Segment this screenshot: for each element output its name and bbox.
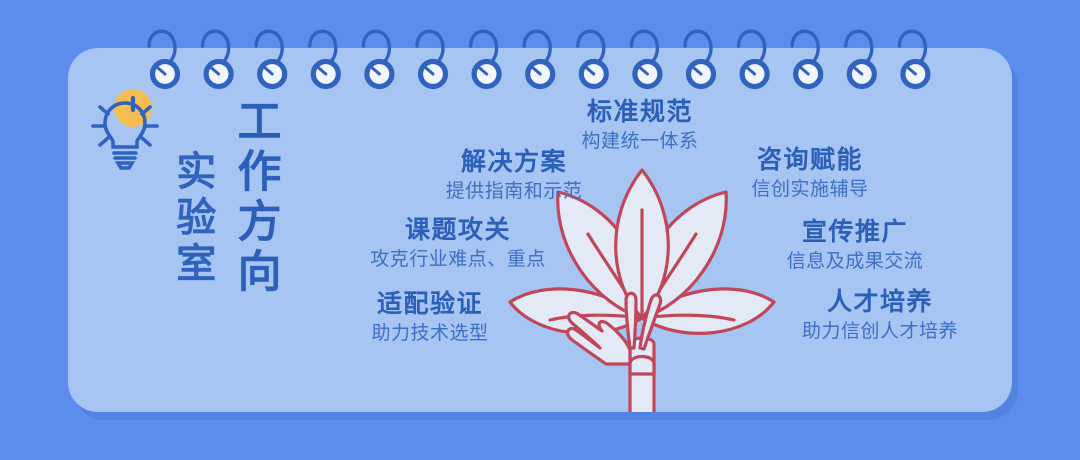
spoke-label-zixun: 咨询赋能 信创实施辅导 (700, 146, 920, 202)
spoke-title: 宣传推广 (740, 218, 970, 247)
spoke-label-jiejue: 解决方案 提供指南和示范 (404, 148, 624, 204)
spoke-subtitle: 攻克行业难点、重点 (338, 248, 578, 273)
spoke-title: 咨询赋能 (700, 146, 920, 175)
spoke-subtitle: 助力信创人才培养 (770, 320, 990, 345)
spoke-title: 标准规范 (540, 98, 740, 127)
spoke-title: 解决方案 (404, 148, 624, 177)
spoke-subtitle: 信息及成果交流 (740, 250, 970, 275)
spoke-title: 课题攻关 (338, 216, 578, 245)
spoke-subtitle: 助力技术选型 (330, 322, 530, 347)
spoke-label-xuanchuan: 宣传推广 信息及成果交流 (740, 218, 970, 274)
spoke-title: 适配验证 (330, 290, 530, 319)
spoke-label-rencai: 人才培养 助力信创人才培养 (770, 288, 990, 344)
spoke-label-keti: 课题攻关 攻克行业难点、重点 (338, 216, 578, 272)
spoke-subtitle: 提供指南和示范 (404, 180, 624, 205)
spoke-subtitle: 信创实施辅导 (700, 178, 920, 203)
hand-sprout-icon (492, 168, 792, 412)
page-title-lab: 实验室 (170, 150, 213, 288)
page-title-direction: 工作方向 (231, 98, 279, 298)
lightbulb-icon (88, 86, 162, 172)
spoke-label-shipei: 适配验证 助力技术选型 (330, 290, 530, 346)
spoke-title: 人才培养 (770, 288, 990, 317)
slide-canvas: 实验室 工作方向 (0, 0, 1080, 460)
